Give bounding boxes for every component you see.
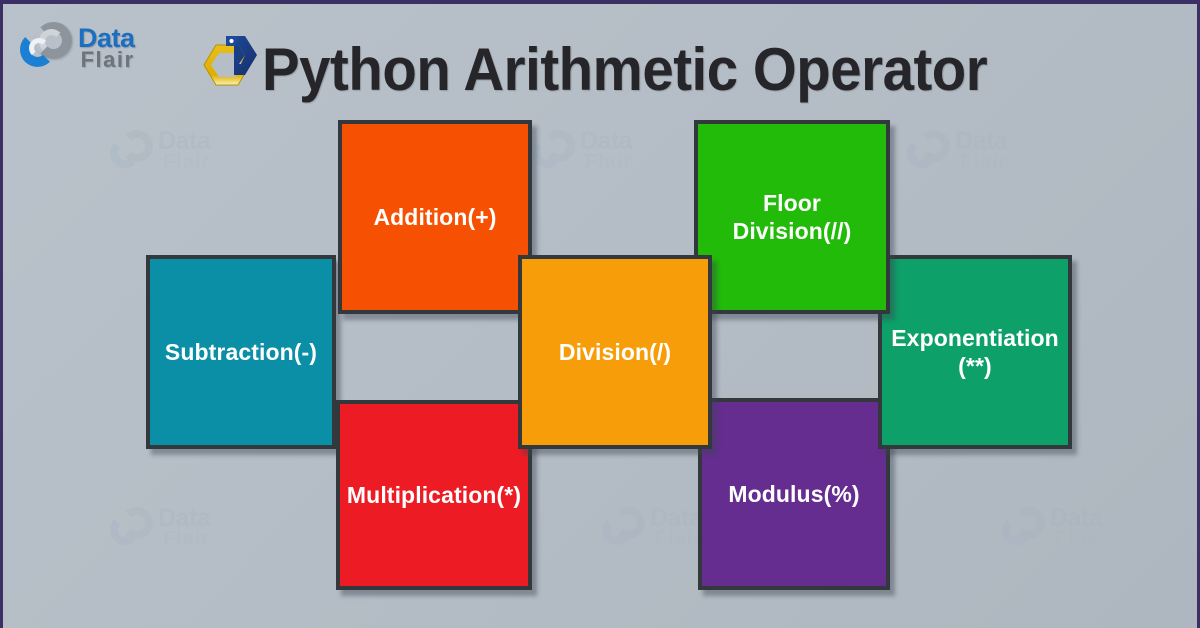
watermark: DataFlair (1000, 505, 1102, 551)
operator-tile-label: Modulus(%) (728, 480, 859, 508)
operator-tile-addition[interactable]: Addition(+) (338, 120, 532, 314)
watermark-wordmark: DataFlair (1050, 507, 1102, 548)
watermark-mark-icon (1000, 505, 1046, 551)
watermark-line2: Flair (650, 530, 702, 548)
watermark-blue-ring-icon (602, 515, 632, 545)
python-logo-icon (193, 28, 265, 105)
watermark-wordmark: DataFlair (955, 130, 1007, 171)
watermark: DataFlair (108, 128, 210, 174)
watermark-line2: Flair (580, 153, 632, 171)
watermark-gray-ring-icon (121, 130, 153, 162)
watermark-mark-icon (905, 128, 951, 174)
watermark-line2: Flair (158, 530, 210, 548)
watermark-line1: Data (955, 130, 1007, 153)
watermark: DataFlair (600, 505, 702, 551)
brand-name-line2: Flair (78, 50, 135, 70)
dataflair-mark-icon (18, 20, 76, 76)
watermark-line2: Flair (158, 153, 210, 171)
logo-blue-inner-icon (29, 38, 49, 58)
watermark-blue-ring-icon (110, 515, 140, 545)
watermark: DataFlair (530, 128, 632, 174)
watermark-line1: Data (158, 130, 210, 153)
operator-tile-label: Subtraction(-) (165, 338, 317, 366)
watermark-wordmark: DataFlair (158, 507, 210, 548)
watermark-mark-icon (108, 505, 154, 551)
operator-tile-subtraction[interactable]: Subtraction(-) (146, 255, 336, 449)
watermark-line1: Data (1050, 507, 1102, 530)
watermark-line1: Data (158, 507, 210, 530)
watermark: DataFlair (905, 128, 1007, 174)
watermark-gray-ring-icon (918, 130, 950, 162)
watermark-gray-ring-icon (1013, 507, 1045, 539)
operator-tile-label: Addition(+) (373, 203, 496, 231)
watermark-line1: Data (580, 130, 632, 153)
watermark-line2: Flair (955, 153, 1007, 171)
operator-tile-label: Division(/) (559, 338, 671, 366)
watermark-wordmark: DataFlair (580, 130, 632, 171)
watermark-line1: Data (650, 507, 702, 530)
operator-tile-label: Floor Division(//) (733, 189, 852, 245)
operator-tile-exponentiation[interactable]: Exponentiation (**) (878, 255, 1072, 449)
frame-top-strip (0, 0, 1200, 4)
operator-tile-floor-division[interactable]: Floor Division(//) (694, 120, 890, 314)
frame-left-strip (0, 0, 3, 628)
watermark-blue-ring-icon (532, 138, 562, 168)
dataflair-logo: Data Flair (18, 20, 135, 76)
operator-tile-label: Multiplication(*) (347, 481, 521, 509)
watermark-gray-ring-icon (613, 507, 645, 539)
watermark-wordmark: DataFlair (158, 130, 210, 171)
watermark-wordmark: DataFlair (650, 507, 702, 548)
operator-tile-label: Exponentiation (**) (891, 324, 1059, 380)
dataflair-wordmark: Data Flair (78, 26, 135, 70)
operator-tile-multiplication[interactable]: Multiplication(*) (336, 400, 532, 590)
operator-tile-modulus[interactable]: Modulus(%) (698, 398, 890, 590)
operator-tile-division[interactable]: Division(/) (518, 255, 712, 449)
watermark-blue-ring-icon (907, 138, 937, 168)
watermark-mark-icon (530, 128, 576, 174)
watermark-gray-ring-icon (543, 130, 575, 162)
watermark-gray-ring-icon (121, 507, 153, 539)
watermark-mark-icon (600, 505, 646, 551)
watermark-line2: Flair (1050, 530, 1102, 548)
infographic-canvas: DataFlairDataFlairDataFlairDataFlairData… (0, 0, 1200, 628)
watermark: DataFlair (108, 505, 210, 551)
watermark-blue-ring-icon (1002, 515, 1032, 545)
watermark-mark-icon (108, 128, 154, 174)
watermark-blue-ring-icon (110, 138, 140, 168)
page-title: Python Arithmetic Operator (262, 35, 987, 104)
